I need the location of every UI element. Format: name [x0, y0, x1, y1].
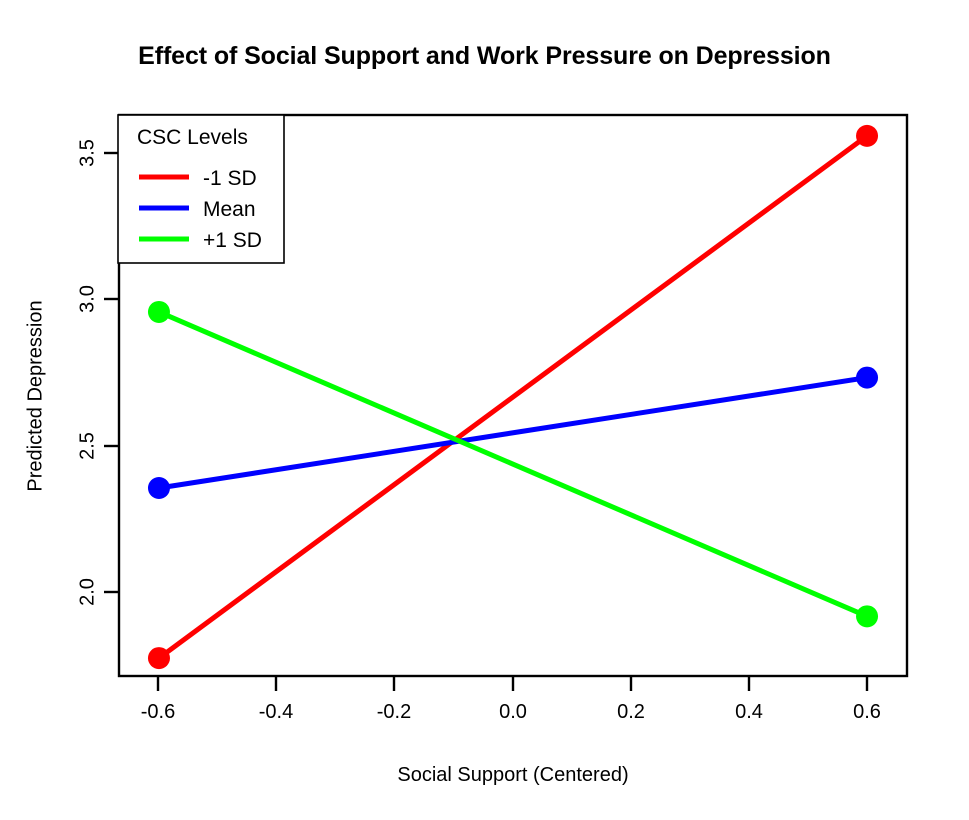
series-mean — [148, 367, 878, 499]
x-tick-label-6: 0.6 — [853, 701, 881, 723]
data-point — [856, 605, 878, 627]
x-tick-label-5: 0.4 — [735, 701, 763, 723]
data-point — [856, 367, 878, 389]
series--1-sd — [148, 301, 878, 627]
x-tick-label-1: -0.4 — [259, 701, 293, 723]
x-tick-label-2: -0.2 — [377, 701, 411, 723]
data-point — [856, 125, 878, 147]
data-point — [148, 301, 170, 323]
y-axis-tick-labels: 2.0 2.5 3.0 3.5 — [76, 139, 98, 606]
legend: CSC Levels -1 SD Mean +1 SD — [118, 115, 284, 263]
x-tick-label-0: -0.6 — [141, 701, 175, 723]
legend-label-1: Mean — [203, 198, 256, 221]
y-tick-label-3: 3.5 — [76, 139, 98, 167]
line-chart: 2.0 2.5 3.0 3.5 Predicted Depression -0.… — [0, 0, 969, 820]
legend-title: CSC Levels — [137, 126, 248, 149]
y-axis-ticks — [104, 153, 119, 592]
series-line — [159, 312, 867, 616]
x-tick-label-3: 0.0 — [499, 701, 527, 723]
chart-canvas: Effect of Social Support and Work Pressu… — [0, 0, 969, 820]
y-tick-label-1: 2.5 — [76, 432, 98, 460]
y-tick-label-2: 3.0 — [76, 285, 98, 313]
legend-label-0: -1 SD — [203, 167, 257, 190]
x-tick-label-4: 0.2 — [617, 701, 645, 723]
y-tick-label-0: 2.0 — [76, 578, 98, 606]
data-point — [148, 647, 170, 669]
y-axis-title: Predicted Depression — [24, 300, 46, 491]
x-axis-ticks — [158, 676, 867, 691]
x-axis-title: Social Support (Centered) — [397, 764, 628, 786]
data-point — [148, 477, 170, 499]
x-axis-tick-labels: -0.6 -0.4 -0.2 0.0 0.2 0.4 0.6 — [141, 701, 881, 723]
legend-label-2: +1 SD — [203, 229, 262, 252]
